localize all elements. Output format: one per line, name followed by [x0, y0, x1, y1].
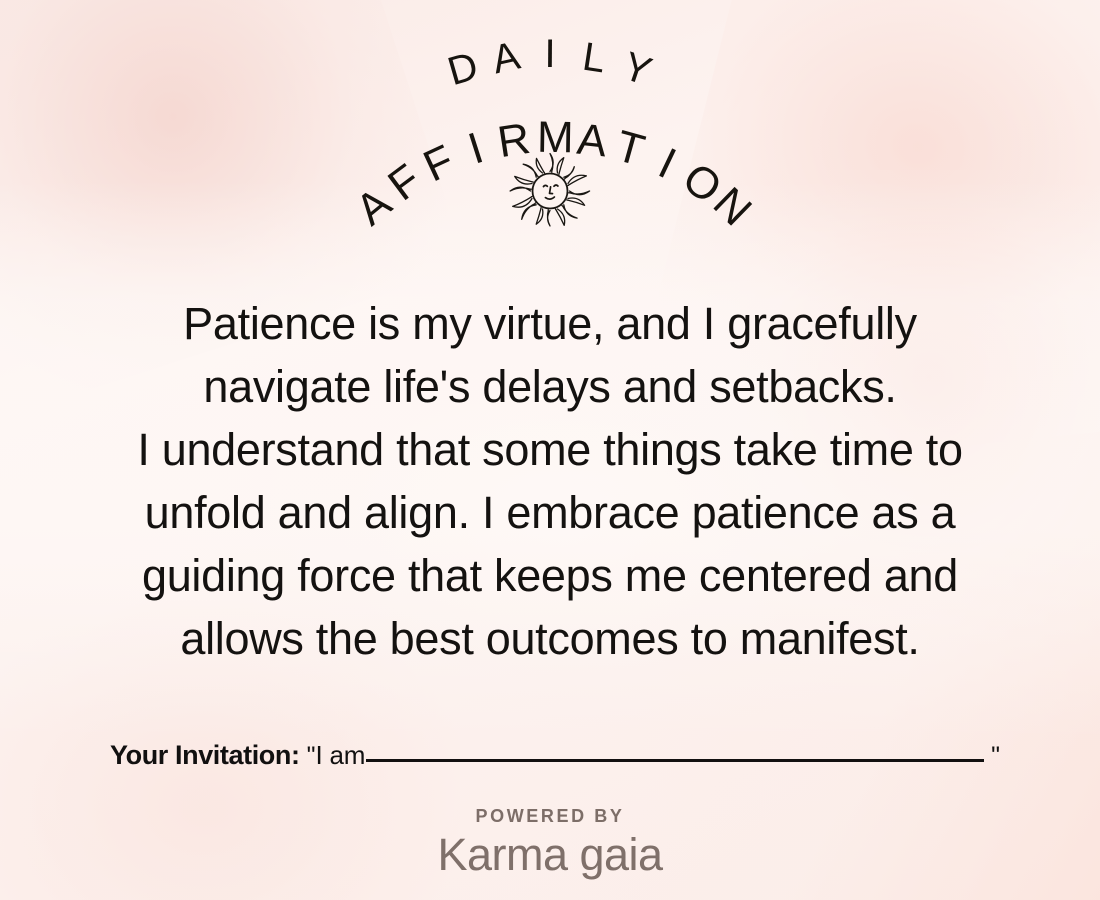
affirmation-card: DAILY AFFIRMATION Patie	[0, 0, 1100, 900]
affirmation-line: guiding force that keeps me centered and	[30, 544, 1070, 607]
affirmation-line: unfold and align. I embrace patience as …	[30, 481, 1070, 544]
powered-by-label: POWERED BY	[0, 806, 1100, 827]
card-header: DAILY AFFIRMATION	[0, 0, 1100, 250]
affirmation-line: I understand that some things take time …	[30, 418, 1070, 481]
invitation-label: Your Invitation:	[110, 740, 300, 771]
brand-wordmark: Karma gaia	[0, 831, 1100, 878]
headline-letter: A	[485, 33, 526, 84]
invitation-row: Your Invitation: " I am "	[110, 740, 1000, 771]
affirmation-text: Patience is my virtue, and I gracefullyn…	[30, 292, 1070, 670]
affirmation-line: allows the best outcomes to manifest.	[30, 607, 1070, 670]
invitation-prefix: I am	[315, 740, 365, 771]
headline-letter: I	[534, 32, 566, 77]
affirmation-line: navigate life's delays and setbacks.	[30, 355, 1070, 418]
sun-with-face-icon	[498, 139, 602, 243]
card-footer: POWERED BY Karma gaia	[0, 806, 1100, 878]
affirmation-line: Patience is my virtue, and I gracefully	[30, 292, 1070, 355]
invitation-open-quote: "	[307, 742, 316, 771]
invitation-blank-input[interactable]	[366, 758, 984, 762]
headline-letter: L	[575, 34, 613, 83]
invitation-close-quote: "	[991, 742, 1000, 771]
